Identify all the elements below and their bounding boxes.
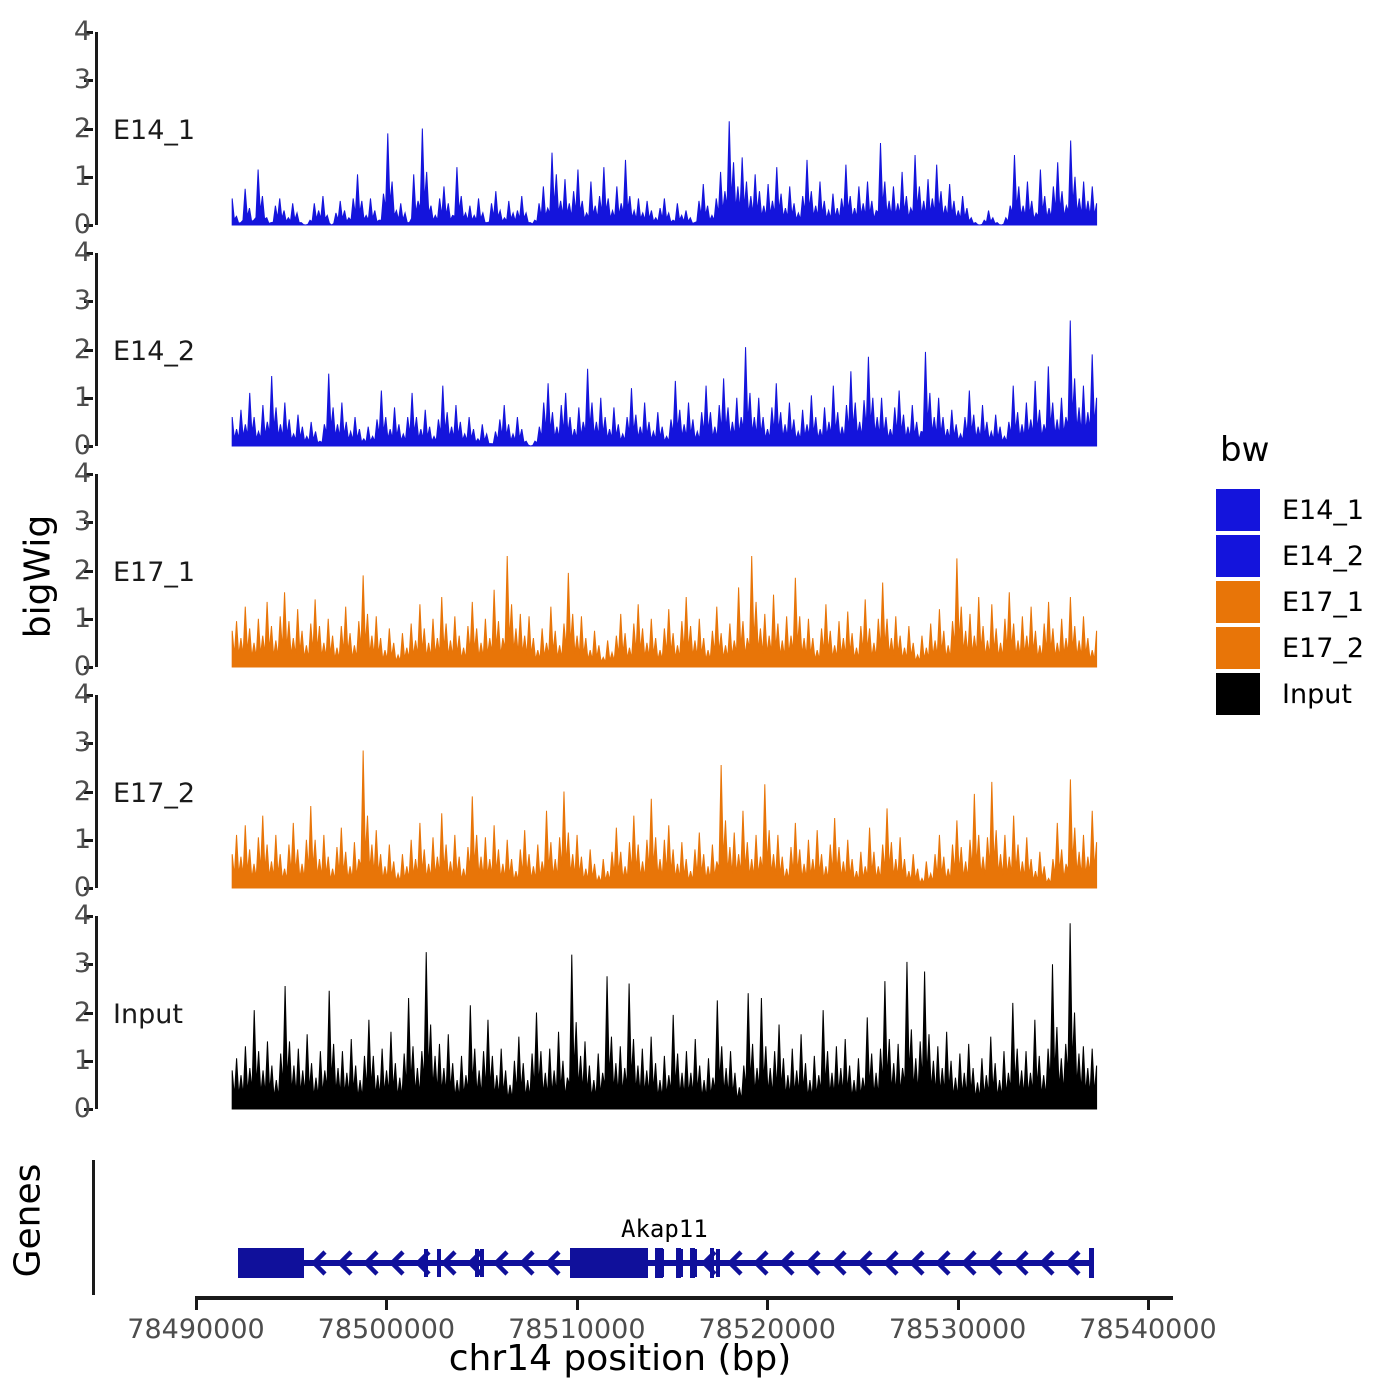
legend-item-label: E14_1 xyxy=(1282,495,1364,526)
x-tick xyxy=(195,1300,198,1310)
signal-trace-e14_1 xyxy=(0,32,1400,231)
legend-color-swatch xyxy=(1216,581,1260,623)
gene-exon-1 xyxy=(238,1248,304,1278)
legend-item-label: E17_2 xyxy=(1282,633,1364,664)
legend-color-swatch xyxy=(1216,627,1260,669)
gene-end-tick xyxy=(1089,1248,1094,1278)
x-tick xyxy=(1147,1300,1150,1310)
gene-exon-tick-5 xyxy=(601,1249,605,1277)
legend-color-swatch xyxy=(1216,673,1260,715)
legend-item-input[interactable]: Input xyxy=(1216,672,1364,716)
legend-items: E14_1E14_2E17_1E17_2Input xyxy=(1216,488,1364,716)
signal-panel-e14_1: 01234E14_1 xyxy=(0,32,1400,231)
legend: bw E14_1E14_2E17_1E17_2Input xyxy=(1216,430,1364,718)
legend-item-e14_1[interactable]: E14_1 xyxy=(1216,488,1364,532)
legend-item-e17_2[interactable]: E17_2 xyxy=(1216,626,1364,670)
x-axis-line xyxy=(195,1296,1173,1300)
gene-exon-tick-7 xyxy=(679,1249,683,1277)
legend-item-label: E14_2 xyxy=(1282,541,1364,572)
gene-exon-tick-8 xyxy=(693,1249,697,1277)
signal-trace-e17_2 xyxy=(0,695,1400,894)
signal-panel-e17_1: 01234E17_1 xyxy=(0,474,1400,673)
x-tick xyxy=(385,1300,388,1310)
legend-item-label: E17_1 xyxy=(1282,587,1364,618)
gene-track-axis-line xyxy=(92,1160,95,1295)
gene-exon-tick-9 xyxy=(716,1249,720,1277)
signal-panel-e14_2: 01234E14_2 xyxy=(0,253,1400,452)
legend-item-label: Input xyxy=(1282,679,1352,710)
gene-label-akap11: Akap11 xyxy=(621,1215,708,1243)
signal-panel-e17_2: 01234E17_2 xyxy=(0,695,1400,894)
legend-color-swatch xyxy=(1216,535,1260,577)
signal-panel-input: 01234Input xyxy=(0,916,1400,1115)
x-tick xyxy=(576,1300,579,1310)
signal-trace-e17_1 xyxy=(0,474,1400,673)
genome-browser-figure: bigWig Genes 01234E14_101234E14_201234E1… xyxy=(0,0,1400,1400)
x-axis-title: chr14 position (bp) xyxy=(0,1338,1240,1379)
x-tick xyxy=(957,1300,960,1310)
signal-trace-e14_2 xyxy=(0,253,1400,452)
gene-track-panel: Akap11 xyxy=(0,1155,1400,1300)
gene-exon-tick-6 xyxy=(660,1249,664,1277)
legend-item-e14_2[interactable]: E14_2 xyxy=(1216,534,1364,578)
x-tick xyxy=(766,1300,769,1310)
legend-item-e17_1[interactable]: E17_1 xyxy=(1216,580,1364,624)
legend-title: bw xyxy=(1220,430,1364,470)
signal-trace-input xyxy=(0,916,1400,1115)
gene-exon-tick-2 xyxy=(437,1249,441,1277)
gene-exon-2 xyxy=(570,1248,648,1278)
legend-color-swatch xyxy=(1216,489,1260,531)
